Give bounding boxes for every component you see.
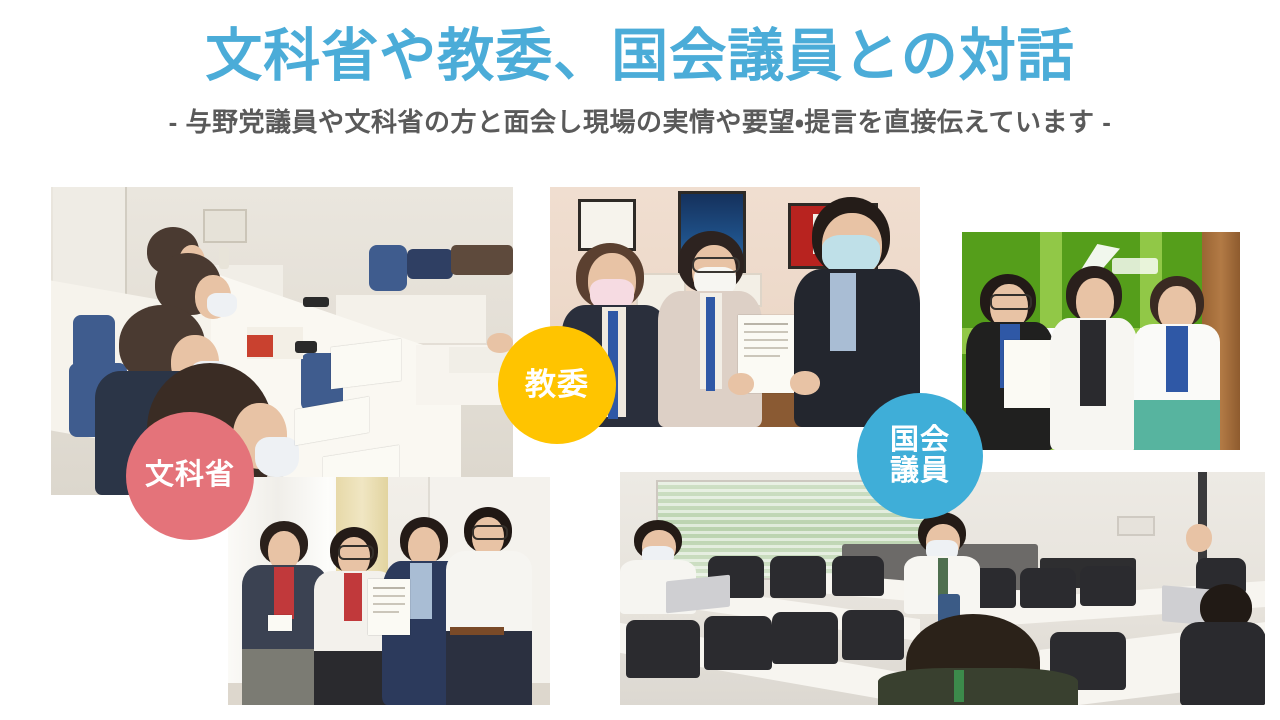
badge-kokkai-line2: 議員: [890, 456, 950, 487]
badge-kokkai-line1: 国会: [890, 425, 950, 456]
photo-four-people-scene: [228, 477, 550, 705]
badge-monkasho-text: 文科省: [145, 460, 235, 491]
badge-kyoui: 教委: [498, 326, 616, 444]
badge-monkasho-line1: 文科省: [145, 460, 235, 491]
badge-monkasho: 文科省: [126, 412, 254, 540]
photo-four-people: [228, 477, 550, 705]
page-title: 文科省や教委、国会議員との対話: [0, 0, 1280, 88]
slide-header: 文科省や教委、国会議員との対話 - 与野党議員や文科省の方と面会し現場の実情や要…: [0, 0, 1280, 139]
badge-kyoui-text: 教委: [525, 368, 589, 401]
badge-kokkai-text: 国会 議員: [890, 425, 950, 488]
photo-green-backdrop-scene: [962, 232, 1240, 450]
photo-meeting-room-scene: [51, 187, 513, 495]
badge-kokkai: 国会 議員: [857, 393, 983, 519]
page-subtitle: - 与野党議員や文科省の方と面会し現場の実情や要望・提言を直接伝えています -: [0, 88, 1280, 139]
badge-kyoui-line1: 教委: [525, 368, 589, 401]
photo-green-backdrop: [962, 232, 1240, 450]
photo-meeting-room: [51, 187, 513, 495]
